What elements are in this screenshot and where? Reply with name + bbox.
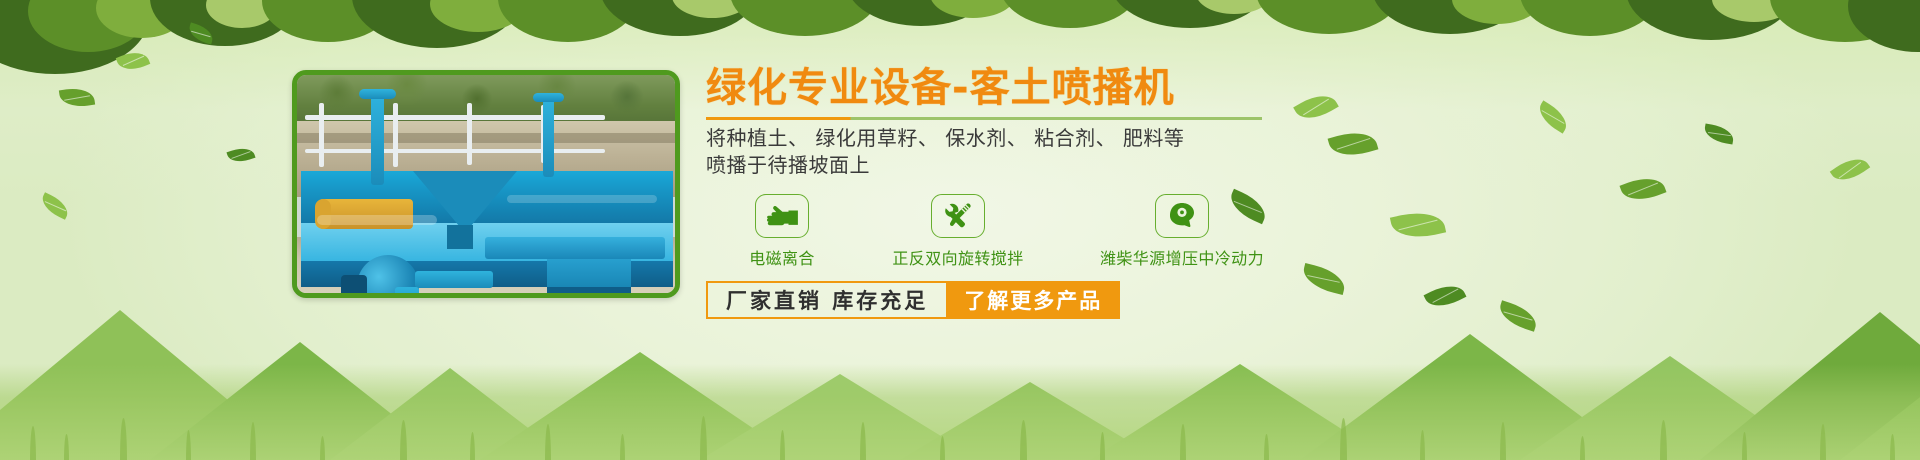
feature-label: 潍柴华源增压中冷动力 [1100,245,1264,269]
feature-item-mixing[interactable]: 正反双向旋转搅拌 [858,194,1058,269]
wrench-screwdriver-icon [931,194,985,238]
engine-gear-icon [1155,194,1209,238]
product-photo[interactable] [292,70,680,298]
subtitle-line-2: 喷播于待播坡面上 [706,152,1306,180]
banner-content: 绿化专业设备-客土喷播机 将种植土、 绿化用草籽、 保水剂、 粘合剂、 肥料等 … [706,66,1306,319]
promo-banner: 绿化专业设备-客土喷播机 将种植土、 绿化用草籽、 保水剂、 粘合剂、 肥料等 … [0,0,1920,460]
product-photo-image [297,75,675,293]
cta-note: 厂家直销 库存充足 [706,281,946,319]
decor-leaf [1390,207,1446,243]
learn-more-button[interactable]: 了解更多产品 [946,281,1120,319]
feature-item-engine[interactable]: 潍柴华源增压中冷动力 [1058,194,1306,269]
banner-subtitle: 将种植土、 绿化用草籽、 保水剂、 粘合剂、 肥料等 喷播于待播坡面上 [706,125,1306,180]
clutch-hand-icon [755,194,809,238]
subtitle-line-1: 将种植土、 绿化用草籽、 保水剂、 粘合剂、 肥料等 [706,125,1306,153]
feature-item-clutch[interactable]: 电磁离合 [706,194,858,269]
feature-list: 电磁离合 正反双向旋转搅拌 [706,194,1306,269]
grass-strip [0,364,1920,460]
cta-bar: 厂家直销 库存充足 了解更多产品 [706,281,1306,319]
feature-label: 电磁离合 [749,245,815,269]
title-divider [706,117,1262,120]
banner-title: 绿化专业设备-客土喷播机 [706,66,1306,111]
feature-label: 正反双向旋转搅拌 [892,245,1023,269]
